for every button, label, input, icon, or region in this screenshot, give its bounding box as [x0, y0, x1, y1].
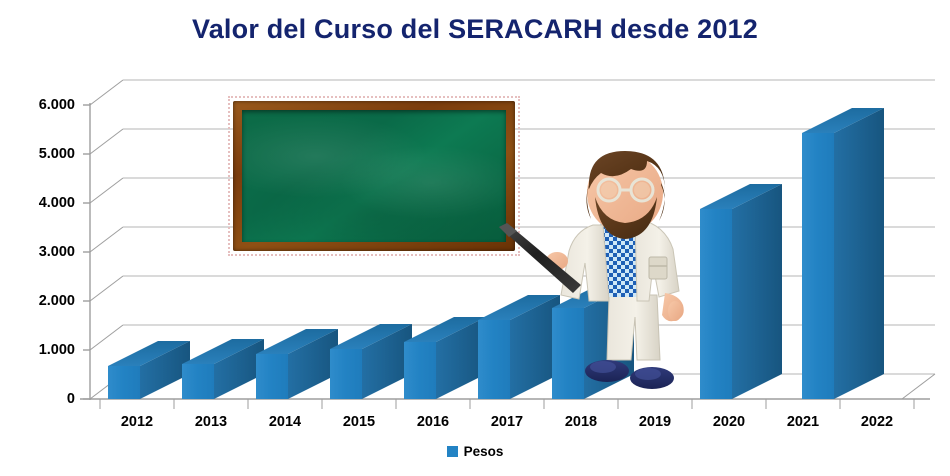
x-label-2014: 2014 — [250, 414, 320, 430]
chart-legend: Pesos — [0, 444, 950, 459]
y-tick-1000: 1.000 — [0, 342, 75, 358]
x-label-2022: 2022 — [842, 414, 912, 430]
x-label-2018: 2018 — [546, 414, 616, 430]
bar-2020[interactable] — [700, 184, 782, 399]
figure-shoes — [585, 360, 674, 389]
bar-2013[interactable] — [182, 339, 264, 399]
x-axis-ticks — [100, 399, 914, 409]
y-tick-2000: 2.000 — [0, 293, 75, 309]
y-tick-4000: 4.000 — [0, 195, 75, 211]
depth-connectors — [90, 80, 123, 399]
x-label-2019: 2019 — [620, 414, 690, 430]
x-label-2016: 2016 — [398, 414, 468, 430]
bar-2014[interactable] — [256, 329, 338, 399]
floor-edge — [902, 374, 935, 399]
chalkboard-green-surface — [242, 110, 506, 242]
x-label-2015: 2015 — [324, 414, 394, 430]
playmobil-teacher-image[interactable] — [497, 145, 712, 395]
y-tick-5000: 5.000 — [0, 146, 75, 162]
y-axis — [83, 103, 90, 400]
x-label-2012: 2012 — [102, 414, 172, 430]
figure-legs — [607, 295, 660, 360]
y-tick-3000: 3.000 — [0, 244, 75, 260]
x-label-2017: 2017 — [472, 414, 542, 430]
legend-label-pesos: Pesos — [464, 444, 504, 459]
bar-2022[interactable] — [802, 108, 884, 399]
legend-swatch-pesos — [447, 446, 458, 457]
x-label-2021: 2021 — [768, 414, 838, 430]
bar-2016[interactable] — [404, 317, 486, 399]
y-tick-0: 0 — [0, 391, 75, 407]
playmobil-teacher-svg — [497, 145, 712, 395]
chart-page: Valor del Curso del SERACARH desde 2012 — [0, 0, 950, 476]
bar-2012[interactable] — [108, 341, 190, 399]
chalkboard-image[interactable] — [228, 96, 520, 256]
y-tick-6000: 6.000 — [0, 97, 75, 113]
x-label-2013: 2013 — [176, 414, 246, 430]
bar-2015[interactable] — [330, 324, 412, 399]
figure-right-hand — [662, 293, 684, 321]
chalkboard-wooden-frame — [233, 101, 515, 251]
x-label-2020: 2020 — [694, 414, 764, 430]
